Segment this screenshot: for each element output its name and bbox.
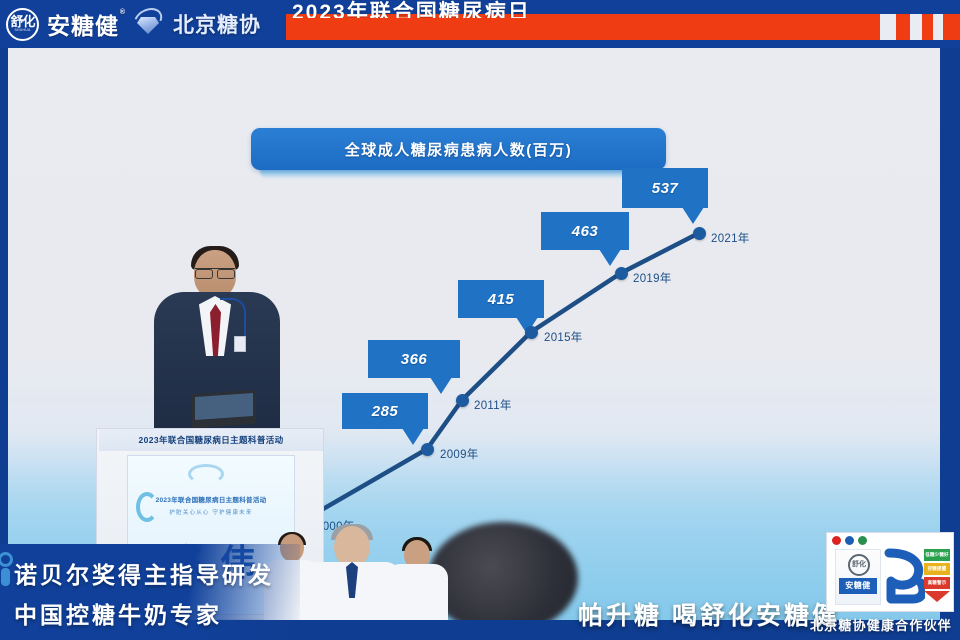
diamond-logo-icon	[133, 9, 163, 39]
callout-2009-value: 285	[372, 403, 399, 420]
level-bar-low: 低糖少糖好	[924, 549, 950, 561]
podium-banner-text: 2023年联合国糖尿病日主题科普活动	[99, 429, 323, 451]
banner-line-2: 中国控糖牛奶专家	[14, 596, 300, 630]
package-label: 安糖健	[839, 578, 877, 594]
ribbon-notch	[933, 14, 943, 40]
level-bars: 低糖少糖好 控糖提醒 高糖警示	[924, 549, 950, 604]
red-banner-title: 2023年联合国糖尿病日	[292, 0, 622, 18]
logo-dot-red	[832, 536, 841, 545]
arrow-graphic-icon	[883, 547, 925, 605]
package-ring-icon: 舒化	[848, 554, 870, 576]
bottom-slogan: 帕升糖 喝舒化安糖健	[578, 596, 840, 632]
callout-2011: 366	[368, 340, 460, 378]
level-bar-high: 高糖警示	[924, 577, 950, 589]
brand-name-text: 安糖健	[47, 13, 119, 39]
podium-screen-subtitle: 护脏关心从心 守护健康未来	[128, 508, 294, 516]
mascot-body	[1, 568, 10, 586]
year-label-2021: 2021年	[711, 230, 750, 246]
callout-2011-tail	[430, 377, 452, 394]
shuhua-logo-cn: 舒化	[10, 15, 34, 28]
callout-2021-value: 537	[652, 180, 679, 197]
datapoint-2011	[456, 394, 469, 407]
level-bar-mid: 控糖提醒	[924, 563, 950, 575]
year-label-2009: 2009年	[440, 446, 479, 462]
doctor-figure	[384, 536, 450, 620]
doctor-coat	[386, 564, 448, 620]
datapoint-2021	[693, 227, 706, 240]
logo-dot-blue	[845, 536, 854, 545]
laptop	[192, 390, 256, 428]
callout-2019-tail	[599, 249, 621, 266]
year-label-2011: 2011年	[474, 397, 512, 413]
level-bar-arrow	[924, 591, 950, 602]
callout-2009-tail	[402, 428, 424, 445]
top-brand-bar: 2023年联合国糖尿病日 舒化 SHUHUA 安糖健® 北京糖协	[0, 0, 960, 48]
product-card-logos	[832, 536, 867, 545]
trademark-icon: ®	[120, 9, 126, 16]
presentation-slide: 全球成人糖尿病患病人数(百万) 285 366 415 463 537	[8, 40, 940, 620]
outer-frame: 全球成人糖尿病患病人数(百万) 285 366 415 463 537	[0, 0, 960, 640]
product-package: 舒化 安糖健	[835, 549, 881, 605]
callout-2015-value: 415	[488, 291, 515, 308]
callout-2021: 537	[622, 168, 708, 208]
bottom-left-banner: 诺贝尔奖得主指导研发 中国控糖牛奶专家	[0, 544, 300, 640]
package-ring-label: 舒化	[850, 556, 868, 574]
callout-2021-tail	[682, 207, 704, 224]
lanyard	[220, 298, 246, 340]
callout-2019: 463	[541, 212, 629, 250]
callout-2011-value: 366	[401, 351, 428, 368]
shuhua-logo-en: SHUHUA	[15, 29, 31, 33]
datapoint-2009	[421, 443, 434, 456]
year-label-2015: 2015年	[544, 329, 583, 345]
association-name: 北京糖协	[173, 9, 261, 39]
ribbon-notch	[880, 14, 896, 40]
banner-line-1: 诺贝尔奖得主指导研发	[14, 556, 300, 590]
podium-ring-decor	[188, 464, 224, 484]
year-label-2019: 2019年	[633, 270, 672, 286]
logo-dot-green	[858, 536, 867, 545]
callout-2009: 285	[342, 393, 428, 429]
mascot-head	[0, 552, 13, 567]
ribbon-notch	[910, 14, 922, 40]
name-badge	[234, 336, 246, 352]
callout-2015: 415	[458, 280, 544, 318]
partner-text: 北京糖协健康合作伙伴	[810, 615, 952, 634]
datapoint-2015	[525, 326, 538, 339]
brand-name: 安糖健®	[47, 7, 119, 41]
glasses-icon	[195, 268, 235, 276]
shuhua-logo-icon: 舒化 SHUHUA	[6, 8, 39, 41]
mascot-icon	[0, 552, 18, 588]
callout-2019-value: 463	[572, 223, 599, 240]
brand-logo-group: 舒化 SHUHUA 安糖健® 北京糖协	[6, 2, 275, 46]
datapoint-2019	[615, 267, 628, 280]
podium-screen-title: 2023年联合国糖尿病日主题科普活动	[128, 494, 294, 504]
product-card: 舒化 安糖健 低糖少糖好 控糖提醒 高糖警示	[826, 532, 954, 612]
